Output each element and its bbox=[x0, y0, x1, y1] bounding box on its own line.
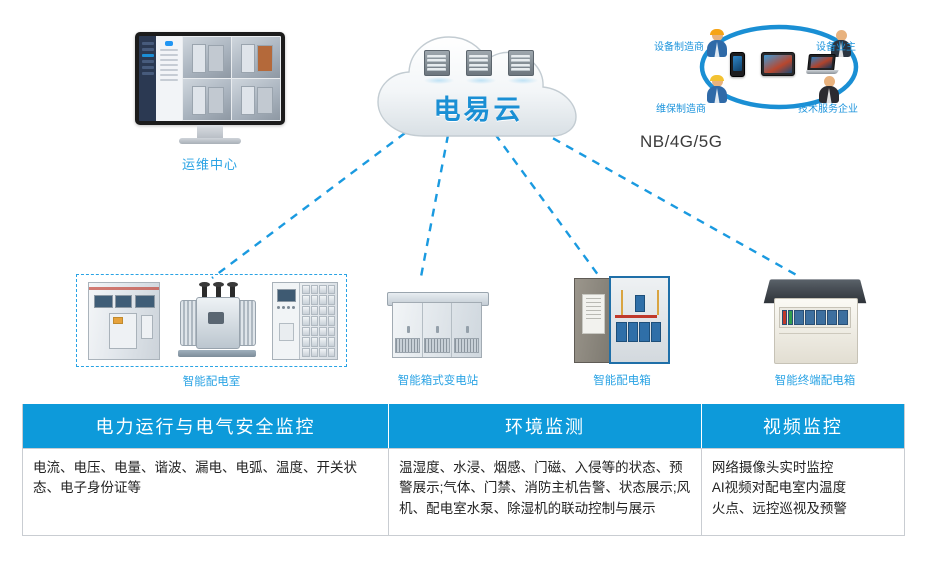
table-cell-environment-monitoring: 温湿度、水浸、烟感、门磁、入侵等的状态、预警展示;气体、门禁、消防主机告警、状态… bbox=[389, 449, 702, 535]
link-cloud-to-distribution-cabinet bbox=[495, 134, 604, 283]
device-label-terminal-box: 智能终端配电箱 bbox=[745, 372, 885, 388]
terminal-distribution-box-icon bbox=[765, 278, 865, 362]
person-equipment-manufacturer-icon bbox=[706, 30, 728, 60]
app-video-grid-mock bbox=[182, 36, 281, 121]
op-center-node: 运维中心 bbox=[135, 32, 285, 173]
link-cloud-to-terminal-box bbox=[540, 131, 800, 277]
device-node-box-substation: 智能箱式变电站 bbox=[373, 278, 503, 388]
desktop-monitor-icon bbox=[135, 32, 285, 125]
stakeholder-ring: 设备制造商 设备业主 维保制造商 技术服务企业 bbox=[648, 14, 910, 122]
cloud-node: 电易云 bbox=[366, 32, 591, 144]
table-cell-video-monitoring: 网络摄像头实时监控 AI视频对配电室内温度 火点、远控巡视及预警 bbox=[701, 449, 904, 535]
device-label-distribution-cabinet: 智能配电箱 bbox=[558, 372, 686, 388]
table-header-environment-monitoring: 环境监测 bbox=[389, 404, 702, 449]
network-label: NB/4G/5G bbox=[640, 132, 722, 152]
laptop-icon bbox=[806, 54, 838, 76]
table-header-row: 电力运行与电气安全监控 环境监测 视频监控 bbox=[23, 404, 904, 449]
tablet-icon bbox=[761, 52, 795, 76]
server-rack-icon bbox=[466, 50, 492, 84]
ring-label-equipment-manufacturer: 设备制造商 bbox=[654, 38, 704, 53]
ring-label-maintenance-provider: 维保制造商 bbox=[656, 100, 706, 115]
device-node-distribution-cabinet: 智能配电箱 bbox=[558, 272, 686, 388]
app-list-mock bbox=[156, 36, 182, 121]
ring-label-technical-service: 技术服务企业 bbox=[798, 100, 858, 115]
diagram-canvas: 运维中心 bbox=[0, 0, 927, 563]
cloud-servers bbox=[424, 50, 534, 84]
table-row: 电流、电压、电量、谐波、漏电、电弧、温度、开关状态、电子身份证等 温湿度、水浸、… bbox=[23, 449, 904, 535]
table-header-power-monitoring: 电力运行与电气安全监控 bbox=[23, 404, 389, 449]
transformer-icon bbox=[172, 284, 262, 358]
lv-switchgear-row-icon bbox=[272, 282, 338, 360]
monitor-stand-base bbox=[179, 138, 241, 144]
device-node-terminal-box: 智能终端配电箱 bbox=[745, 272, 885, 388]
op-center-label: 运维中心 bbox=[135, 154, 285, 173]
device-node-distribution-room: 智能配电室 bbox=[76, 274, 347, 389]
switchgear-cabinet-icon bbox=[88, 282, 160, 360]
table-cell-power-monitoring: 电流、电压、电量、谐波、漏电、电弧、温度、开关状态、电子身份证等 bbox=[23, 449, 389, 535]
server-rack-icon bbox=[424, 50, 450, 84]
box-substation-icon bbox=[387, 292, 487, 358]
distribution-cabinet-icon bbox=[574, 276, 670, 364]
device-label-box-substation: 智能箱式变电站 bbox=[373, 372, 503, 388]
monitor-screen bbox=[139, 36, 281, 121]
smartphone-icon bbox=[730, 52, 745, 77]
capability-table: 电力运行与电气安全监控 环境监测 视频监控 电流、电压、电量、谐波、漏电、电弧、… bbox=[22, 404, 905, 536]
monitor-stand-neck bbox=[197, 125, 223, 138]
ring-label-equipment-owner: 设备业主 bbox=[816, 38, 856, 53]
person-maintenance-provider-icon bbox=[706, 76, 728, 106]
app-sidebar-mock bbox=[139, 36, 156, 121]
cloud-title: 电易云 bbox=[366, 88, 591, 127]
link-cloud-to-box-substation bbox=[420, 135, 448, 282]
device-label-distribution-room: 智能配电室 bbox=[76, 373, 347, 389]
server-rack-icon bbox=[508, 50, 534, 84]
table-header-video-monitoring: 视频监控 bbox=[701, 404, 904, 449]
